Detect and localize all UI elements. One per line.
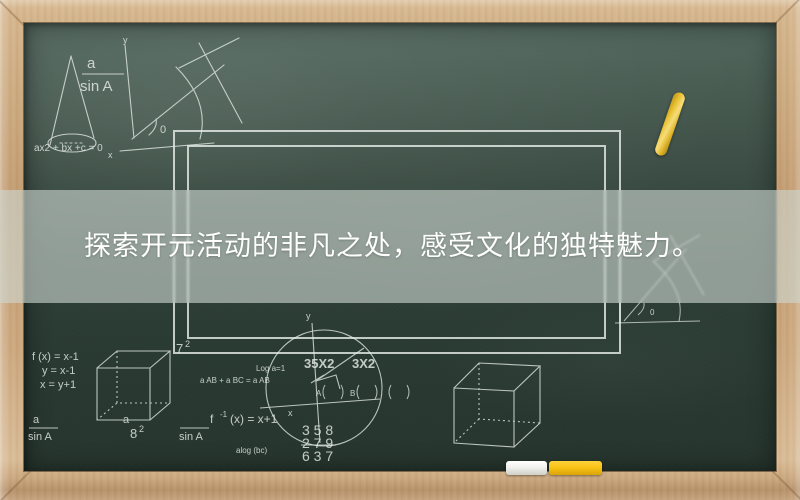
chalkboard-banner: a sin A y x 0 ax2 + bx +c = 0 f (x) = x-… bbox=[0, 0, 800, 500]
ray-line-1 bbox=[132, 65, 224, 139]
chalk-quadratic-equation: ax2 + bx +c = 0 bbox=[34, 143, 103, 154]
chalk-axis-label-x-2: x bbox=[288, 408, 293, 418]
angle-sketch-horizontal bbox=[615, 321, 700, 323]
axis-y-line-1 bbox=[125, 45, 134, 138]
chalk-axis-label-y-2: y bbox=[306, 311, 311, 321]
arc-1 bbox=[176, 67, 202, 139]
chalk-law-of-sines-denominator-1: sin A bbox=[80, 78, 113, 95]
chalk-inverse-exponent: -1 bbox=[220, 410, 228, 419]
cube-1-top-face bbox=[97, 351, 170, 368]
chalk-law-of-sines-numerator-2: a bbox=[33, 414, 40, 426]
chalk-fx-line-1: f (x) = x-1 bbox=[32, 351, 79, 363]
chalk-axis-label-y-1: y bbox=[123, 35, 128, 45]
chalk-seven: 7 bbox=[176, 341, 183, 356]
cube-1-right-face bbox=[150, 351, 170, 420]
angle-arc-small bbox=[149, 119, 156, 135]
chalk-fx-line-3: x = y+1 bbox=[40, 379, 76, 391]
caption-text: 探索开元活动的非凡之处，感受文化的独特魅力。 bbox=[0, 233, 700, 260]
chalk-law-of-sines-numerator-1: a bbox=[87, 55, 96, 72]
chalk-law-of-sines-numerator-3: a bbox=[123, 414, 130, 426]
chalk-mult-1: 35X2 bbox=[304, 356, 334, 371]
chalk-angle-theta-1: 0 bbox=[160, 124, 166, 136]
chalk-vector-note: a AB + a BC = a AB bbox=[200, 376, 270, 385]
chalk-axis-label-x-1: x bbox=[108, 150, 113, 160]
chalk-inverse-rest: (x) = x+1 bbox=[230, 412, 278, 426]
matrix-bracket-c bbox=[389, 385, 409, 399]
chalk-alog: alog (bc) bbox=[236, 446, 267, 455]
caption-band: 探索开元活动的非凡之处，感受文化的独特魅力。 bbox=[0, 190, 800, 303]
chalk-inverse-fn: f bbox=[210, 412, 214, 426]
chalk-fx-line-2: y = x-1 bbox=[42, 365, 75, 377]
axis-x-line-1 bbox=[120, 143, 214, 151]
cube-2-top-face bbox=[454, 363, 540, 391]
chalk-eight: 8 bbox=[130, 426, 137, 441]
chalk-seven-exponent: 2 bbox=[185, 339, 190, 349]
chalk-mult-2: 3X2 bbox=[352, 356, 375, 371]
cube-2-hidden-edge-2 bbox=[454, 419, 479, 443]
cube-1-hidden-edges bbox=[117, 351, 170, 403]
chalk-sum-total: 6 3 7 bbox=[302, 448, 333, 464]
yellow-chalk-ledge-icon bbox=[549, 461, 602, 475]
cube-1-front-face bbox=[97, 368, 150, 420]
cube-2-hidden-edges bbox=[479, 363, 540, 423]
angle-sketch-small-arc bbox=[638, 303, 644, 315]
ray-line-3 bbox=[179, 38, 239, 68]
chalk-law-of-sines-denominator-2: sin A bbox=[28, 431, 53, 443]
circle-axis-x bbox=[260, 399, 380, 408]
cube-2-front-face bbox=[454, 388, 514, 447]
white-chalk-icon bbox=[506, 461, 547, 475]
cube-1-hidden-edge-2 bbox=[97, 403, 117, 420]
cone-left-edge bbox=[50, 56, 71, 145]
matrix-bracket-b bbox=[357, 385, 377, 399]
chalk-matrix-label-b: B bbox=[350, 389, 355, 398]
chalk-angle-theta-2: 0 bbox=[650, 308, 655, 317]
chalk-law-of-sines-denominator-3: sin A bbox=[179, 431, 204, 443]
chalk-matrix-label-a: A bbox=[316, 389, 322, 398]
chalk-eight-exponent: 2 bbox=[139, 424, 144, 434]
